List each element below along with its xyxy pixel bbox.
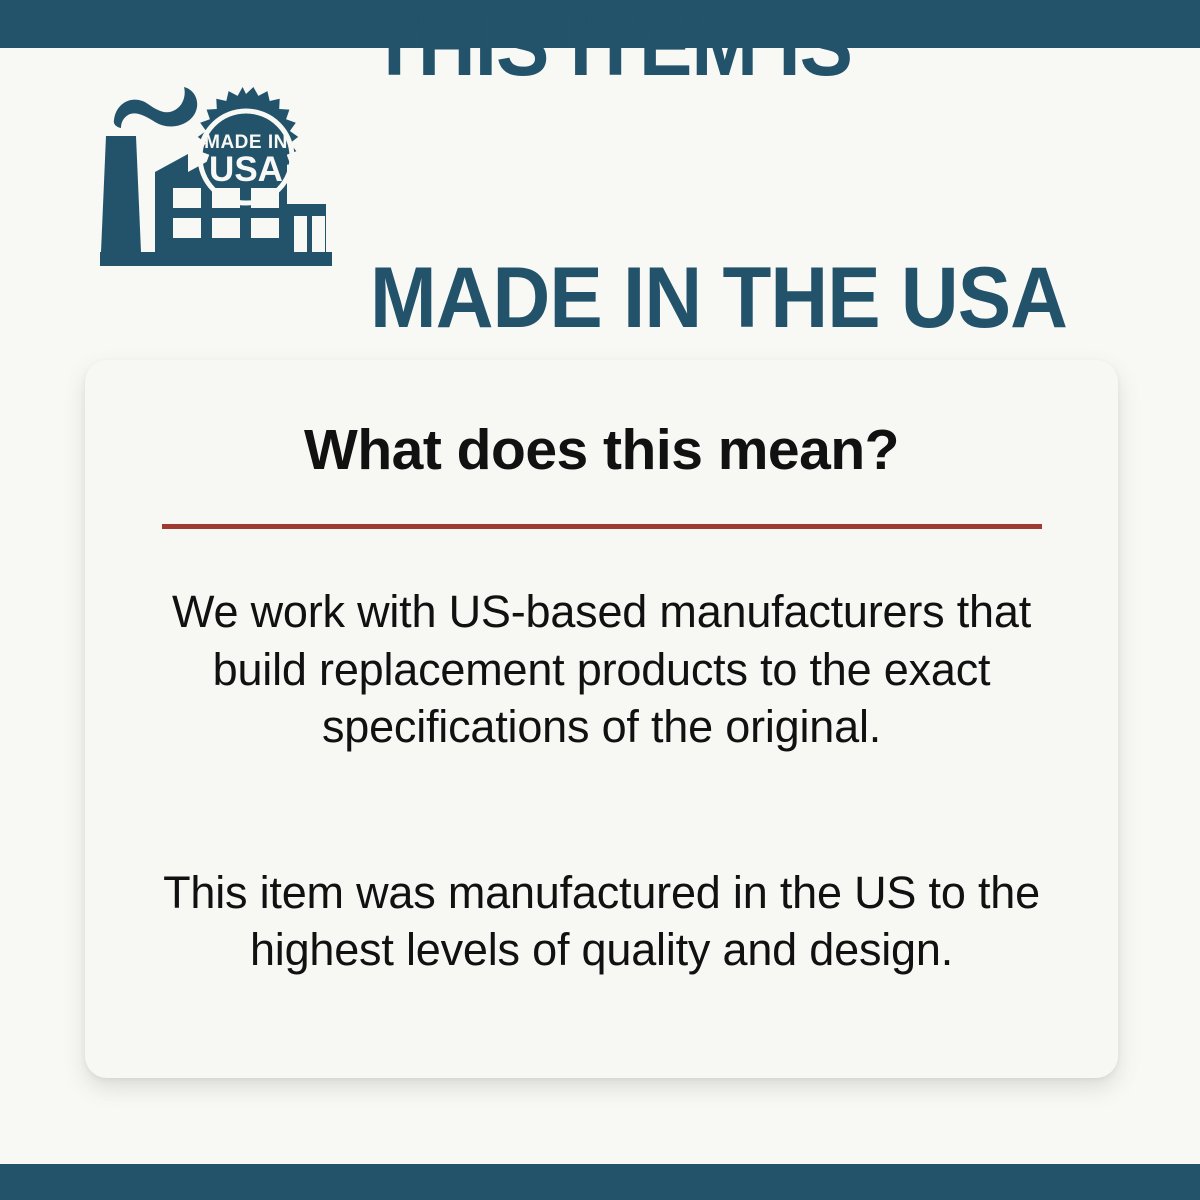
factory-icon: MADE IN USA [100, 84, 338, 269]
card-divider [162, 524, 1042, 529]
headline-line-2: MADE IN THE USA [370, 257, 1067, 340]
made-in-usa-badge-icon: MADE IN USA [198, 87, 298, 203]
info-card: What does this mean? We work with US-bas… [85, 360, 1118, 1078]
bottom-accent-bar [0, 1164, 1200, 1200]
card-paragraph: This item was manufactured in the US to … [137, 864, 1066, 979]
page-root: MADE IN USA THIS ITEM IS MADE IN THE USA… [0, 0, 1200, 1200]
card-title: What does this mean? [85, 360, 1118, 479]
headline-line-1: THIS ITEM IS [370, 5, 1067, 88]
card-paragraph: We work with US-based manufacturers that… [137, 583, 1066, 756]
card-body: We work with US-based manufacturers that… [85, 583, 1118, 979]
header-banner: MADE IN USA THIS ITEM IS MADE IN THE USA [0, 48, 1200, 298]
svg-text:USA: USA [209, 150, 283, 189]
